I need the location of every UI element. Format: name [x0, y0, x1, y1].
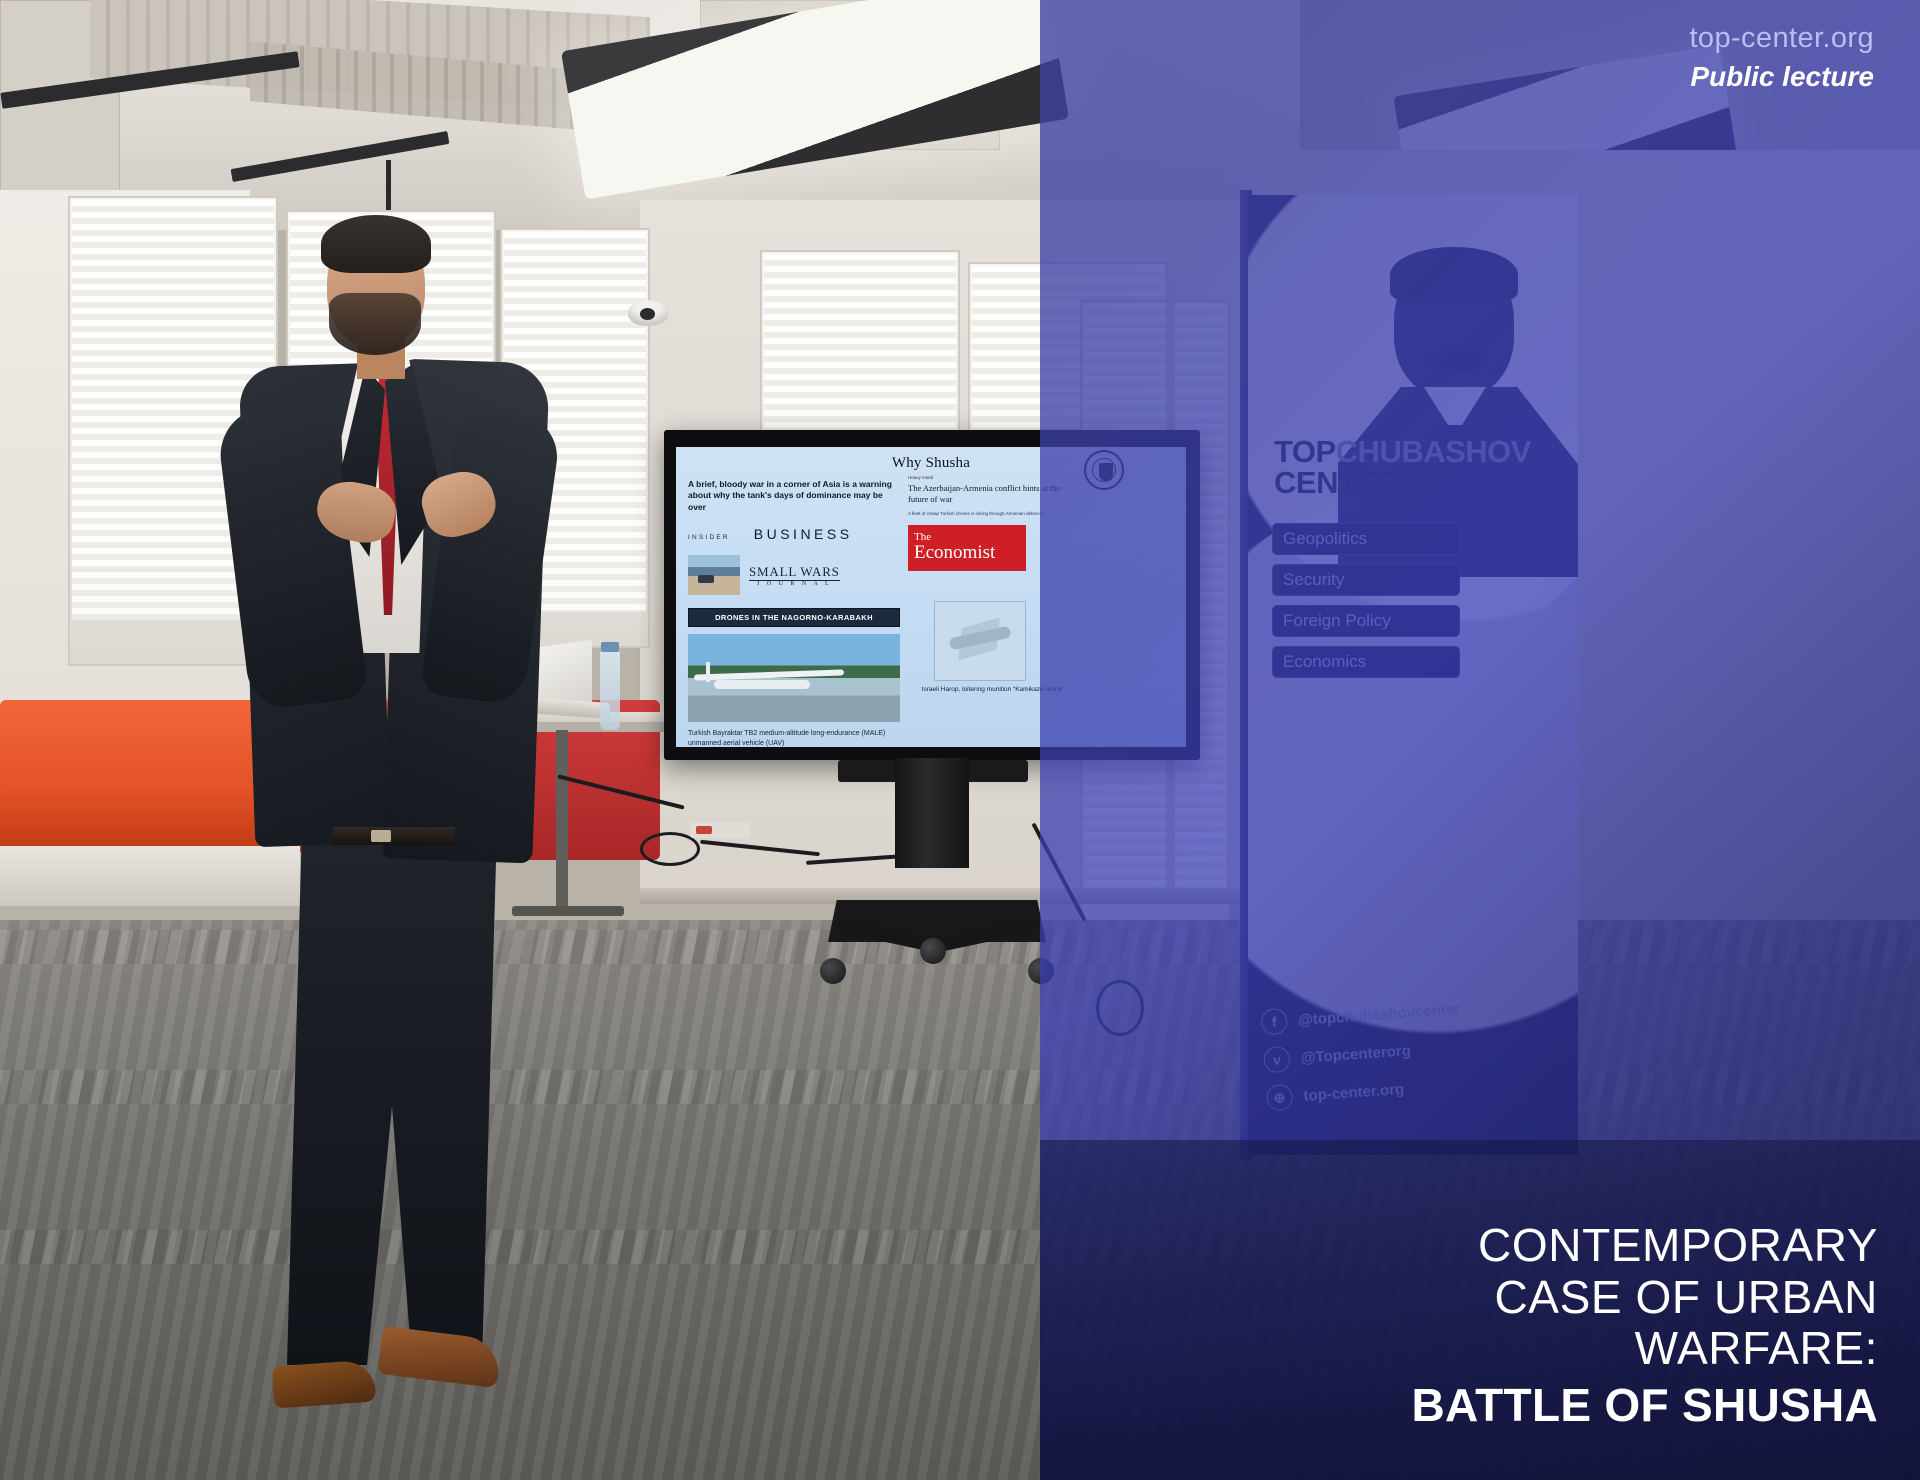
bottle-cap	[601, 642, 619, 652]
drones-section-bar: DRONES IN THE NAGORNO-KARABAKH	[688, 608, 900, 627]
bayraktar-caption: Turkish Bayraktar TB2 medium-altitude lo…	[688, 729, 900, 747]
speaker	[225, 215, 585, 1480]
business-wordmark: BUSINESS	[754, 526, 853, 542]
business-insider-headline: A brief, bloody war in a corner of Asia …	[688, 479, 900, 513]
brand-website-url: top-center.org	[1689, 22, 1874, 55]
tv-caster-wheel	[920, 938, 946, 964]
small-wars-journal-logo: SMALL WARS J O U R N A L	[749, 564, 840, 587]
power-strip	[690, 822, 750, 838]
speaker-trousers	[267, 825, 517, 1365]
journal-thumbnail	[688, 555, 740, 595]
title-line-3: WARFARE:	[1412, 1323, 1878, 1375]
speaker-beard	[329, 293, 421, 355]
promo-image: Why Shusha A brief, bloody war in a corn…	[0, 0, 1920, 1480]
title-line-1: CONTEMPORARY	[1412, 1220, 1878, 1272]
brand-header: top-center.org Public lecture	[1689, 22, 1874, 93]
tv-stand-column	[895, 758, 969, 868]
title-line-2: CASE OF URBAN	[1412, 1272, 1878, 1324]
lecture-title-block: CONTEMPORARY CASE OF URBAN WARFARE: BATT…	[1412, 1220, 1878, 1432]
harop-drone-photo	[934, 601, 1026, 681]
speaker-hair	[321, 215, 431, 273]
speaker-belt	[333, 827, 455, 845]
slide-left-column: A brief, bloody war in a corner of Asia …	[688, 479, 900, 747]
title-line-4: BATTLE OF SHUSHA	[1412, 1378, 1878, 1432]
journal-subtitle: J O U R N A L	[749, 580, 840, 587]
journal-title: SMALL WARS	[749, 564, 840, 580]
bayraktar-tb2-photo	[688, 634, 900, 722]
economist-name: Economist	[914, 543, 1020, 562]
water-bottle	[600, 650, 620, 730]
speaker-shoe-left	[378, 1326, 503, 1388]
insider-wordmark: INSIDER	[688, 534, 730, 541]
business-insider-logo: INSIDER BUSINESS	[688, 526, 900, 542]
speaker-shoe-right	[272, 1359, 377, 1408]
brand-subtitle: Public lecture	[1689, 61, 1874, 93]
security-camera	[628, 300, 668, 326]
small-wars-journal-block: SMALL WARS J O U R N A L	[688, 555, 900, 595]
tv-caster-wheel	[820, 958, 846, 984]
economist-logo: The Economist	[908, 525, 1026, 571]
